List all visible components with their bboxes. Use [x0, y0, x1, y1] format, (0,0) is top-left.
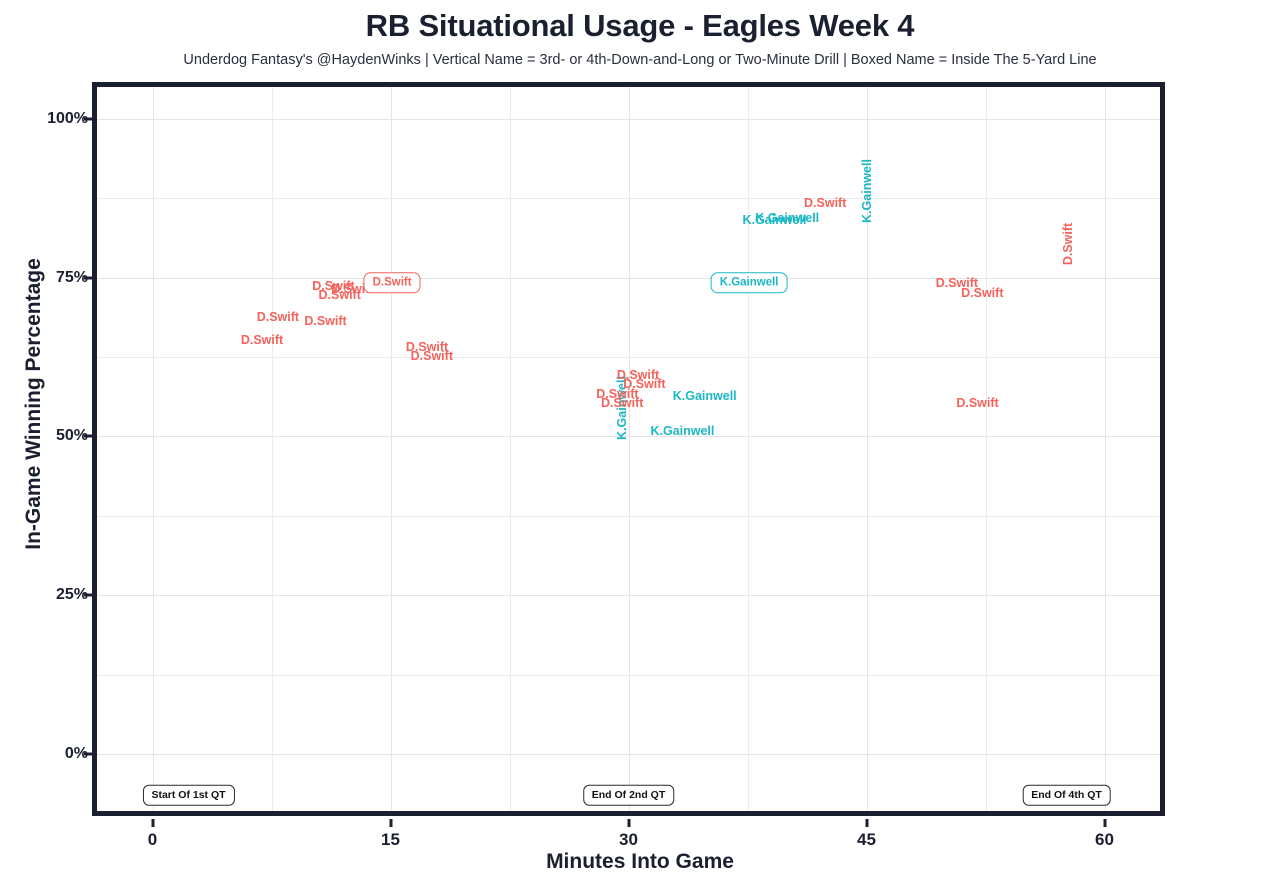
data-point-label-gainwell[interactable]: K.Gainwell [711, 272, 788, 294]
quarter-annotation: Start Of 1st QT [142, 785, 234, 806]
gridline-vertical [748, 87, 749, 811]
x-axis-label: Minutes Into Game [0, 850, 1280, 874]
gridline-horizontal [97, 357, 1160, 358]
gridline-horizontal [97, 754, 1160, 755]
data-point-label-swift[interactable]: D.Swift [961, 287, 1003, 300]
gridline-vertical [510, 87, 511, 811]
gridline-vertical [1105, 87, 1106, 811]
data-point-label-gainwell[interactable]: K.Gainwell [755, 212, 819, 225]
data-point-label-gainwell[interactable]: K.Gainwell [650, 425, 714, 438]
y-tick-mark [84, 594, 92, 597]
gridline-horizontal [97, 198, 1160, 199]
plot-panel: D.SwiftD.SwiftD.SwiftD.SwiftD.SwiftD.Swi… [92, 82, 1165, 816]
gridline-horizontal [97, 119, 1160, 120]
data-point-label-swift[interactable]: D.Swift [241, 334, 283, 347]
y-tick-mark [84, 117, 92, 120]
x-tick-label: 60 [1095, 830, 1114, 850]
x-tick-label: 15 [381, 830, 400, 850]
data-point-label-swift[interactable]: D.Swift [1062, 223, 1075, 265]
gridline-vertical [391, 87, 392, 811]
x-tick-label: 30 [619, 830, 638, 850]
x-tick-label: 0 [148, 830, 157, 850]
gridline-vertical [986, 87, 987, 811]
gridline-horizontal [97, 516, 1160, 517]
x-tick-mark [389, 819, 392, 827]
gridline-vertical [153, 87, 154, 811]
data-point-label-gainwell[interactable]: K.Gainwell [860, 159, 873, 223]
x-tick-mark [151, 819, 154, 827]
data-point-label-swift[interactable]: D.Swift [956, 396, 998, 409]
data-point-label-gainwell[interactable]: K.Gainwell [673, 389, 737, 402]
data-point-label-swift[interactable]: D.Swift [623, 377, 665, 390]
data-point-label-swift[interactable]: D.Swift [364, 272, 421, 294]
gridline-vertical [272, 87, 273, 811]
y-axis-label: In-Game Winning Percentage [22, 94, 46, 714]
x-tick-mark [865, 819, 868, 827]
plot-area: D.SwiftD.SwiftD.SwiftD.SwiftD.SwiftD.Swi… [97, 87, 1160, 811]
gridline-vertical [629, 87, 630, 811]
chart-subtitle: Underdog Fantasy's @HaydenWinks | Vertic… [0, 52, 1280, 68]
gridline-horizontal [97, 278, 1160, 279]
data-point-label-swift[interactable]: D.Swift [257, 311, 299, 324]
data-point-label-swift[interactable]: D.Swift [304, 314, 346, 327]
chart-title: RB Situational Usage - Eagles Week 4 [0, 8, 1280, 44]
y-tick-mark [84, 752, 92, 755]
x-tick-label: 45 [857, 830, 876, 850]
quarter-annotation: End Of 2nd QT [583, 785, 675, 806]
y-tick-mark [84, 276, 92, 279]
data-point-label-swift[interactable]: D.Swift [804, 196, 846, 209]
y-tick-mark [84, 435, 92, 438]
gridline-horizontal [97, 595, 1160, 596]
data-point-label-swift[interactable]: D.Swift [411, 350, 453, 363]
quarter-annotation: End Of 4th QT [1022, 785, 1111, 806]
x-tick-mark [627, 819, 630, 827]
y-tick-label: 100% [47, 110, 88, 128]
data-point-label-swift[interactable]: D.Swift [601, 397, 643, 410]
chart-root: RB Situational Usage - Eagles Week 4 Und… [0, 0, 1280, 885]
gridline-horizontal [97, 675, 1160, 676]
x-tick-mark [1103, 819, 1106, 827]
